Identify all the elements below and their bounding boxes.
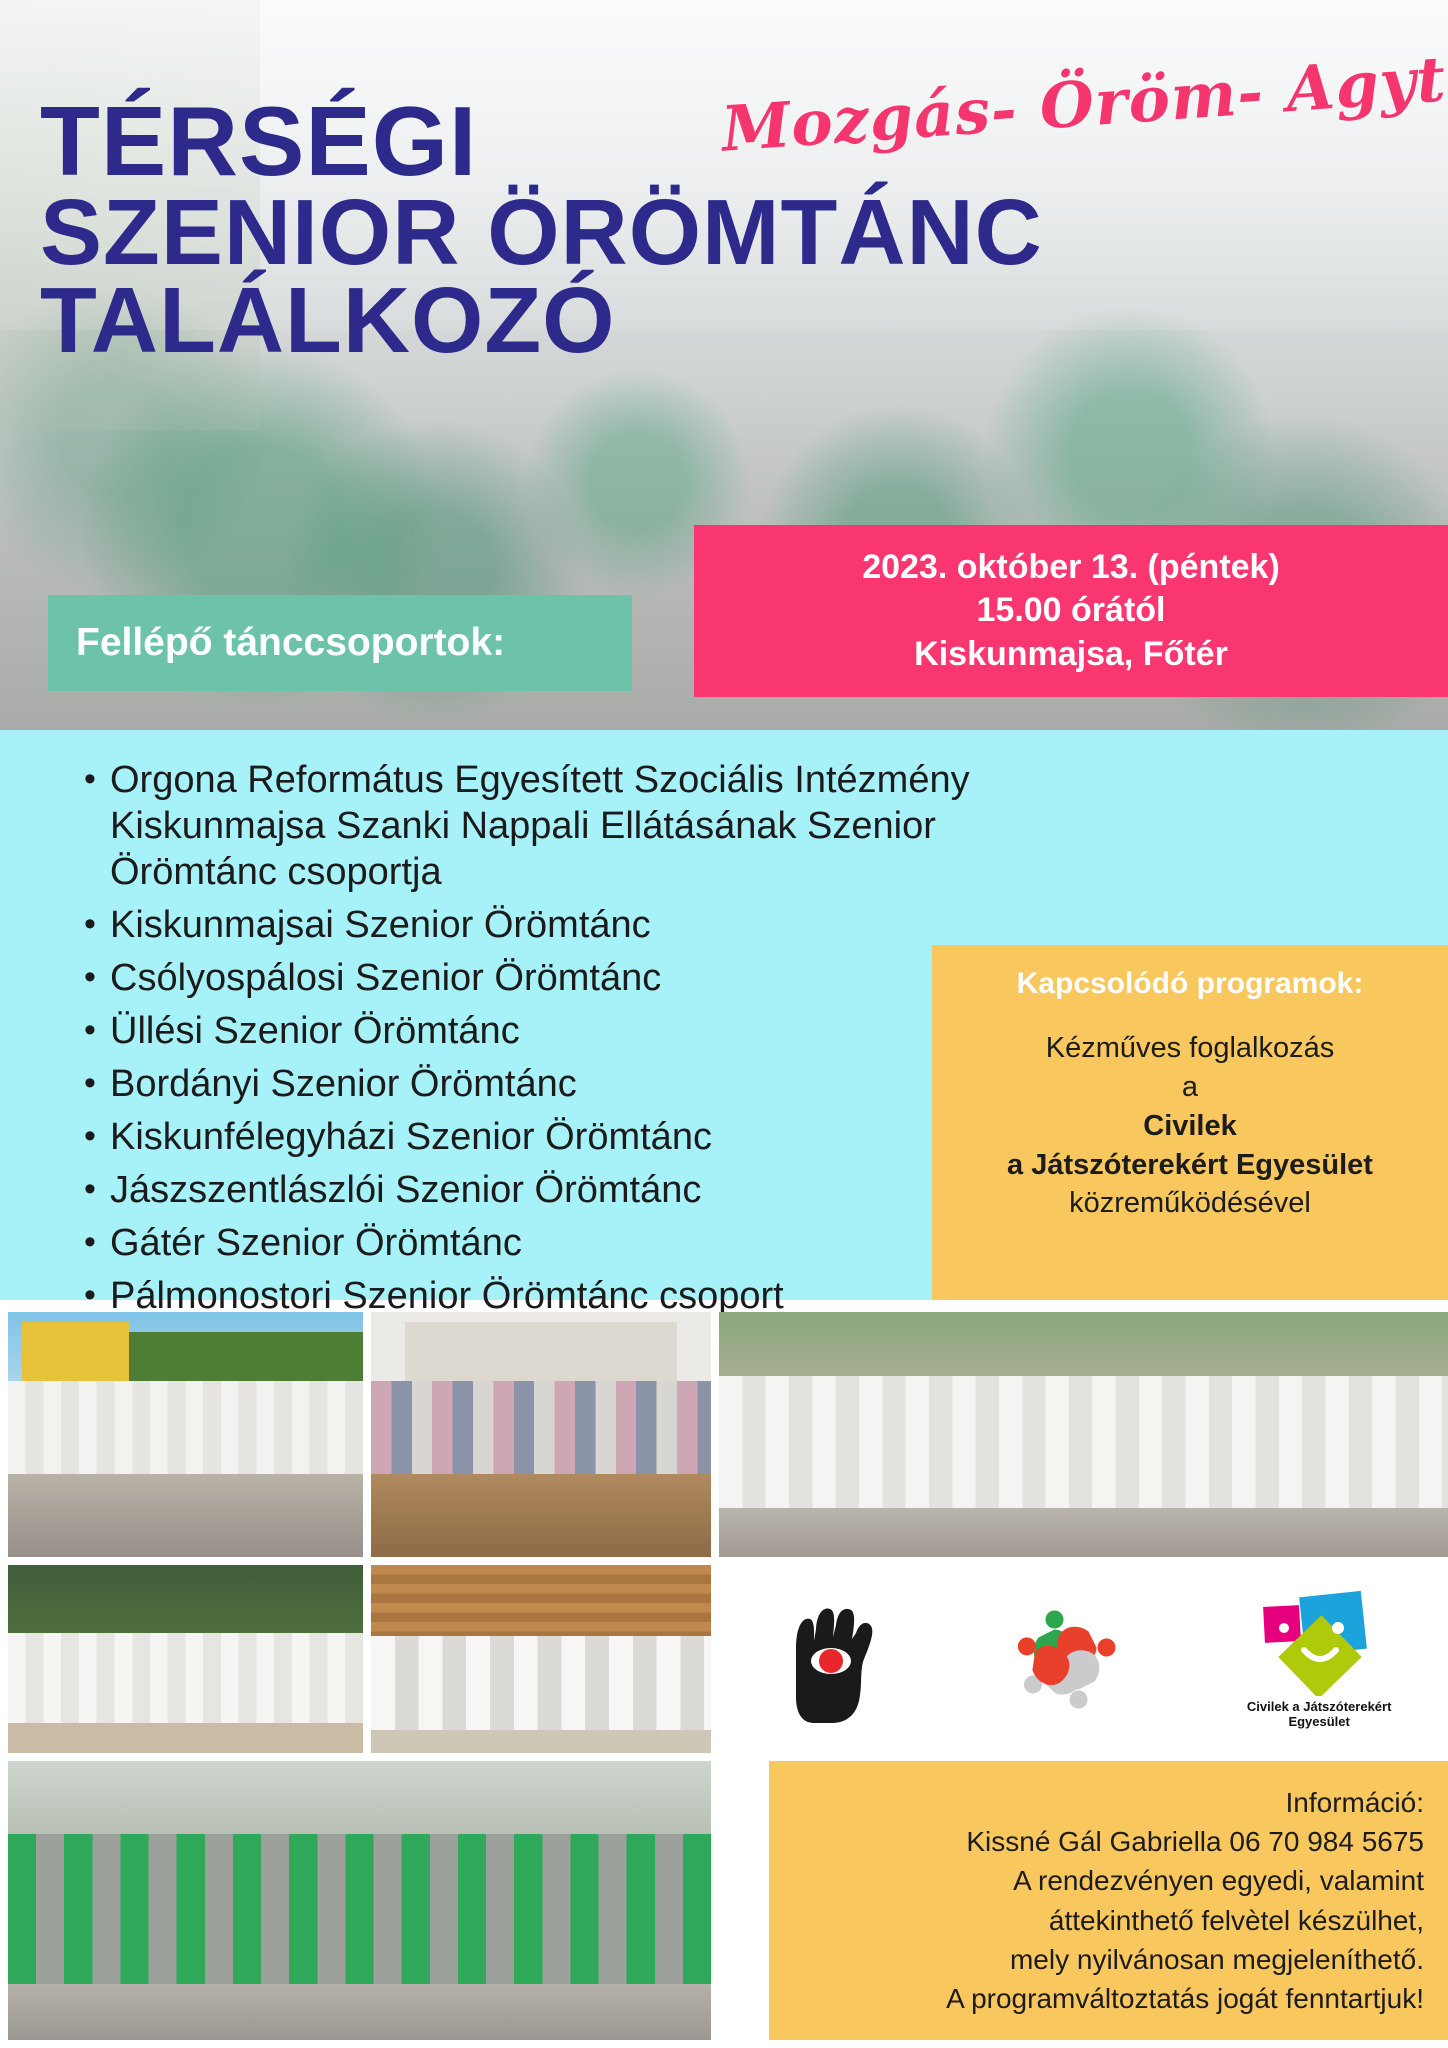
group-name: Jászszentlászlói Szenior Örömtánc [110, 1168, 984, 1214]
bullet-icon: • [84, 1115, 110, 1158]
bullet-icon: • [84, 1062, 110, 1105]
civilek-squares-icon [1254, 1588, 1384, 1696]
group-name: Üllési Szenior Örömtánc [110, 1009, 984, 1055]
logos-row: Civilek a Játszóterekért Egyesület [719, 1565, 1448, 1753]
group-name: Gátér Szenior Örömtánc [110, 1221, 984, 1267]
info-contact: Kissné Gál Gabriella 06 70 984 5675 [966, 1822, 1424, 1861]
info-line-3: A rendezvényen egyedi, valamint [1013, 1861, 1424, 1900]
related-line-2: a [1182, 1068, 1198, 1107]
related-line-5: közreműködésével [1069, 1184, 1311, 1223]
groups-header-banner: Fellépő tánccsoportok: [48, 595, 632, 691]
list-item: •Bordányi Szenior Örömtánc [84, 1062, 984, 1108]
civilek-logo-block: Civilek a Játszóterekért Egyesület [1247, 1588, 1392, 1730]
photo-group-large-outdoor-crowd [719, 1312, 1448, 1557]
list-item: •Üllési Szenior Örömtánc [84, 1009, 984, 1055]
bullet-icon: • [84, 1009, 110, 1052]
list-item: •Orgona Református Egyesített Szociális … [84, 758, 984, 896]
group-name: Kiskunfélegyházi Szenior Örömtánc [110, 1115, 984, 1161]
related-line-1: Kézműves foglalkozás [1046, 1029, 1335, 1068]
list-item: •Kiskunfélegyházi Szenior Örömtánc [84, 1115, 984, 1161]
photo-group-yellow-church [8, 1312, 363, 1557]
photo-group-pavilion-dance [371, 1565, 711, 1753]
bullet-icon: • [84, 903, 110, 946]
related-org-name: Civilek [1143, 1107, 1237, 1146]
info-line-5: mely nyilvánosan megjeleníthető. [1010, 1940, 1424, 1979]
related-org-full: a Játszóterekért Egyesület [1007, 1146, 1373, 1185]
event-location: Kiskunmajsa, Főtér [914, 633, 1228, 676]
page-title-line-3: TALÁLKOZÓ [40, 276, 1080, 364]
related-programs-box: Kapcsolódó programok: Kézműves foglalkoz… [932, 945, 1448, 1300]
group-name: Orgona Református Egyesített Szociális I… [110, 758, 984, 896]
group-name: Bordányi Szenior Örömtánc [110, 1062, 984, 1108]
event-date: 2023. október 13. (péntek) [862, 546, 1280, 589]
event-time: 15.00 órától [977, 589, 1166, 632]
hero-section: Mozgás- Öröm- Agytorna TÉRSÉGI SZENIOR Ö… [0, 0, 1448, 730]
group-name: Csólyospálosi Szenior Örömtánc [110, 956, 984, 1002]
list-item: •Jászszentlászlói Szenior Örömtánc [84, 1168, 984, 1214]
page-title-line-2: SZENIOR ÖRÖMTÁNC [40, 188, 1080, 276]
bullet-icon: • [84, 956, 110, 999]
event-date-box: 2023. október 13. (péntek) 15.00 órától … [694, 525, 1448, 697]
poster: Mozgás- Öröm- Agytorna TÉRSÉGI SZENIOR Ö… [0, 0, 1448, 2048]
photo-green-shirts-square [8, 1761, 711, 2040]
photo-group-green-curtain [8, 1565, 363, 1753]
groups-header-label: Fellépő tánccsoportok: [48, 621, 505, 665]
bullet-icon: • [84, 1221, 110, 1264]
civilek-logo-line-1: Civilek a Játszóterekért [1247, 1700, 1392, 1715]
info-line-4: áttekinthető felvètel készülhet, [1049, 1901, 1424, 1940]
bullet-icon: • [84, 1274, 110, 1317]
bullet-icon: • [84, 1168, 110, 1211]
list-item: •Csólyospálosi Szenior Örömtánc [84, 956, 984, 1002]
hand-with-eye-icon [776, 1589, 886, 1729]
people-pinwheel-icon [999, 1592, 1134, 1727]
page-title-line-1: TÉRSÉGI [40, 95, 1080, 188]
list-item: •Gátér Szenior Örömtánc [84, 1221, 984, 1267]
info-header: Információ: [1286, 1783, 1425, 1822]
bullet-icon: • [84, 758, 110, 801]
photo-group-indoor-hall [371, 1312, 711, 1557]
group-name: Kiskunmajsai Szenior Örömtánc [110, 903, 984, 949]
civilek-logo-line-2: Egyesület [1288, 1715, 1349, 1730]
related-programs-header: Kapcsolódó programok: [1017, 967, 1364, 1001]
groups-list: •Orgona Református Egyesített Szociális … [44, 758, 984, 1327]
info-line-6: A programváltoztatás jogát fenntartjuk! [946, 1979, 1424, 2018]
list-item: •Kiskunmajsai Szenior Örömtánc [84, 903, 984, 949]
page-title: TÉRSÉGI SZENIOR ÖRÖMTÁNC TALÁLKOZÓ [40, 95, 1080, 365]
information-box: Információ: Kissné Gál Gabriella 06 70 9… [769, 1761, 1448, 2040]
